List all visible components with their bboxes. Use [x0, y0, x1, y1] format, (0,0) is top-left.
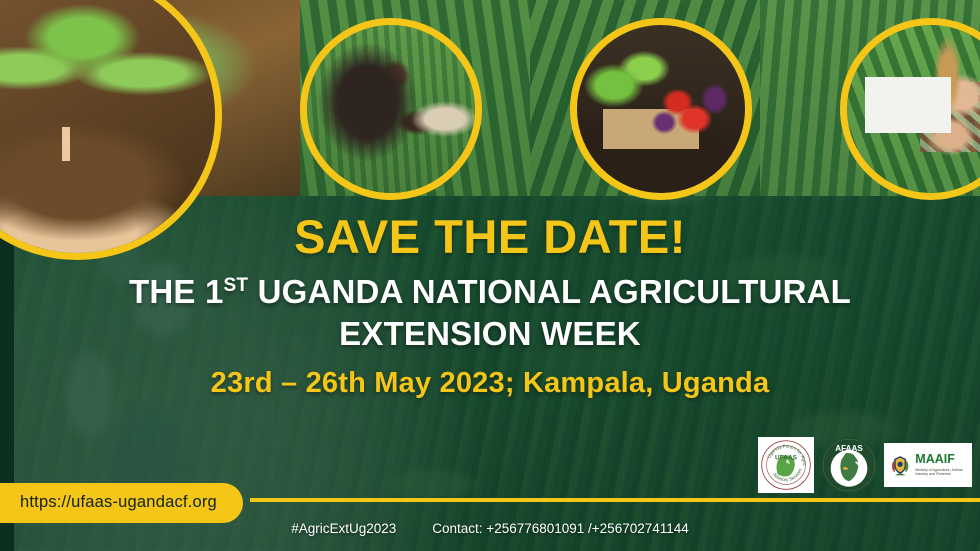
website-url-pill[interactable]: https://ufaas-ugandacf.org	[0, 483, 243, 523]
afaas-logo: AFAAS	[821, 437, 877, 493]
farmer-with-goats-image	[307, 25, 475, 193]
footer-meta: #AgricExtUg2023Contact: +256776801091 /+…	[0, 521, 980, 536]
maaif-text-block: MAAIF Ministry of Agriculture, Animal In…	[915, 453, 967, 476]
ordinal-suffix: ST	[224, 275, 249, 296]
event-title-line-1: THE 1ST UGANDA NATIONAL AGRICULTURAL	[0, 271, 980, 313]
svg-text:AFAAS: AFAAS	[835, 444, 863, 453]
vegetable-crate-image	[577, 25, 745, 193]
event-title-line-2: EXTENSION WEEK	[0, 313, 980, 355]
uganda-coat-of-arms-icon	[889, 447, 911, 483]
event-title-prefix: THE 1	[129, 273, 224, 310]
svg-text:UFAAS: UFAAS	[775, 455, 798, 462]
event-title-suffix: UGANDA NATIONAL AGRICULTURAL	[248, 273, 851, 310]
photo-circle-vegetable-crate	[570, 18, 752, 200]
ufaas-logo: Uganda Forum for Agricultural Advisory S…	[758, 437, 814, 493]
contact-phone-numbers: Contact: +256776801091 /+256702741144	[432, 521, 689, 536]
photo-circle-farmer-with-goats	[300, 18, 482, 200]
save-the-date-flyer: SAVE THE DATE! THE 1ST UGANDA NATIONAL A…	[0, 0, 980, 551]
event-hashtag: #AgricExtUg2023	[291, 521, 396, 536]
footer-divider-line	[250, 498, 980, 502]
event-date-location: 23rd – 26th May 2023; Kampala, Uganda	[0, 367, 980, 400]
maaif-abbreviation: MAAIF	[915, 453, 967, 466]
maaif-subtitle: Ministry of Agriculture, Animal Industry…	[915, 468, 967, 477]
save-the-date-text: SAVE THE DATE!	[0, 212, 980, 262]
headline-block: SAVE THE DATE! THE 1ST UGANDA NATIONAL A…	[0, 212, 980, 400]
maaif-logo: MAAIF Ministry of Agriculture, Animal In…	[884, 443, 972, 487]
partner-logos: Uganda Forum for Agricultural Advisory S…	[758, 437, 972, 493]
clipboard-writing-image	[847, 25, 980, 193]
